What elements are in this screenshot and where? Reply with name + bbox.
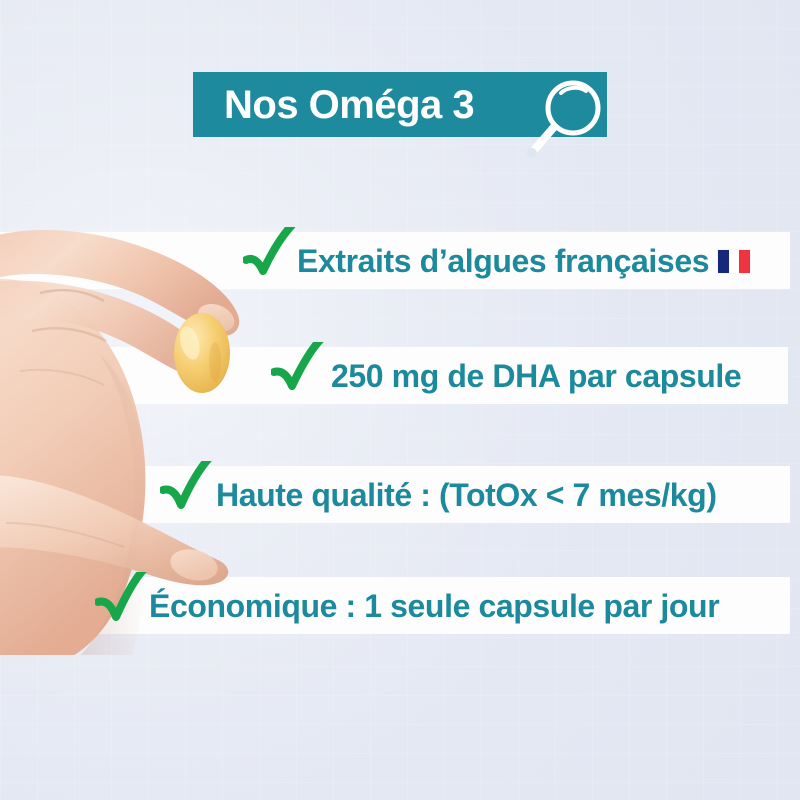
magnifier-icon [523, 75, 613, 161]
benefit-row-algues: Extraits d’algues françaises [243, 232, 750, 289]
title-banner: Nos Oméga 3 [193, 72, 607, 137]
benefit-text: Économique : 1 seule capsule par jour [149, 590, 719, 622]
check-icon [95, 572, 147, 634]
check-icon [271, 342, 325, 404]
check-icon [160, 461, 212, 523]
page-title: Nos Oméga 3 [224, 85, 474, 125]
poster-root: Nos Oméga 3 Extraits d’algues françaises [0, 0, 800, 800]
benefit-text: Haute qualité : (TotOx < 7 mes/kg) [216, 479, 717, 511]
benefit-text: 250 mg de DHA par capsule [331, 360, 741, 392]
benefit-row-economique: Économique : 1 seule capsule par jour [95, 577, 719, 634]
benefit-text: Extraits d’algues françaises [297, 245, 709, 277]
check-icon [243, 227, 295, 289]
benefit-row-qualite: Haute qualité : (TotOx < 7 mes/kg) [160, 466, 717, 523]
benefit-row-dha: 250 mg de DHA par capsule [271, 347, 741, 404]
french-flag-icon [718, 250, 750, 273]
